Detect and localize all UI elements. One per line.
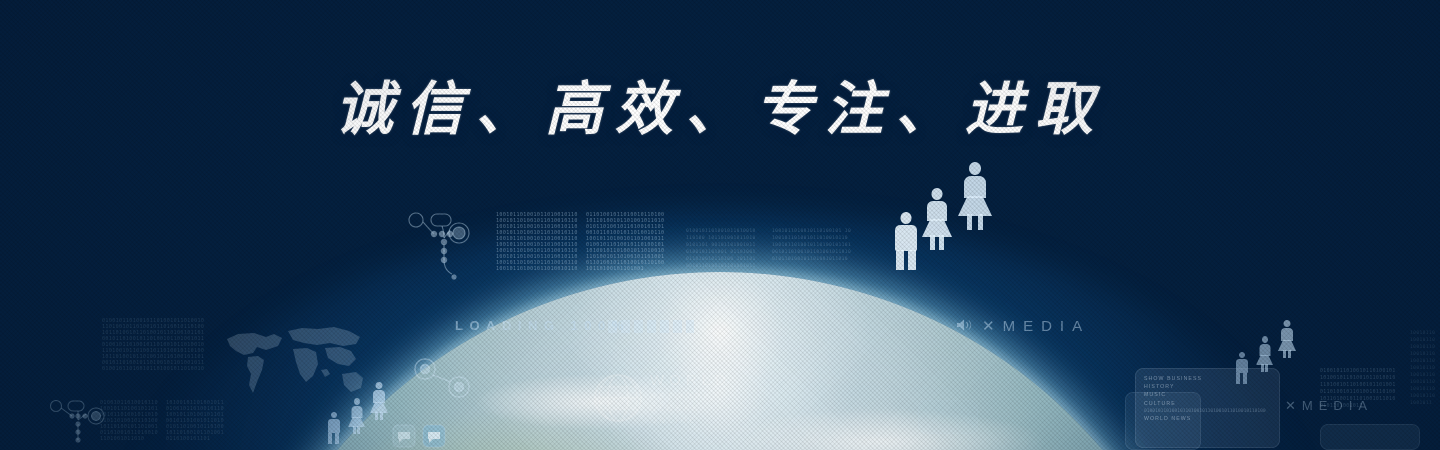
hud-panel-globe-right xyxy=(918,400,978,434)
person-icon-female-2 xyxy=(958,162,992,230)
info-panel-line-5: WORLD NEWS xyxy=(1144,415,1271,423)
person-icon-left-3 xyxy=(370,382,388,420)
speaker-icon xyxy=(955,318,975,332)
network-node-diagram-top xyxy=(404,208,476,284)
chat-bubble-icon-2 xyxy=(422,424,446,448)
hud-panel-bottom-center xyxy=(1320,424,1420,450)
person-icon-right-1 xyxy=(1234,352,1249,384)
hero-banner: WORLD NETWORK GLOBAL ONLINE 诚信、高效、专注、进取 … xyxy=(0,0,1440,450)
media-label-right: ✕MEDIA xyxy=(1285,398,1373,414)
globe-sub-line-3: ONLINE xyxy=(650,416,698,425)
person-icon-left-1 xyxy=(326,412,341,444)
info-panel-line-2: HISTORY xyxy=(1144,383,1271,391)
binary-string-block-1: 0100101101001011010010110100 10110100101… xyxy=(686,228,758,274)
binary-block-bottom-left-2: 1010010110100101101001011010010110100101… xyxy=(166,400,224,448)
person-icon-left-2 xyxy=(348,398,365,434)
info-panel[interactable]: SHOW BUSINESS HISTORY MUSIC CULTURE 0100… xyxy=(1135,368,1280,448)
binary-block-center-2: 0110100101101001011010010110100101101001… xyxy=(586,212,666,272)
loading-label: LOADING 100% xyxy=(455,318,630,333)
binary-block-center-1: 1001011010010110100101101001011010010110… xyxy=(496,212,578,272)
person-icon-female-1 xyxy=(922,188,952,250)
earth-globe xyxy=(220,272,1220,450)
binary-block-far-right: 1001011010010110100101101001011010010110… xyxy=(1410,330,1438,440)
globe-sub-line-1: NETWORK xyxy=(650,392,712,401)
media-label-center: ✕MEDIA xyxy=(982,317,1090,335)
chat-bubble-icon-1 xyxy=(392,424,416,448)
globe-world-label: WORLD xyxy=(650,372,731,389)
info-panel-line-4: CULTURE xyxy=(1144,400,1271,408)
binary-block-left: 0100101101001011010010110100101101001011… xyxy=(102,318,207,370)
person-icon-right-3 xyxy=(1278,320,1296,358)
network-node-diagram-bottom-left xyxy=(46,392,118,450)
globe-grid-icon xyxy=(592,372,644,424)
node-link-icon xyxy=(412,356,474,400)
info-panel-bits: 0100101101001011010010110100101101001011… xyxy=(1144,408,1271,415)
info-panel-line-1: SHOW BUSINESS xyxy=(1144,375,1271,383)
page-title: 诚信、高效、专注、进取 xyxy=(0,62,1440,146)
world-map-silhouette xyxy=(218,322,368,404)
globe-sub-line-2: GLOBAL xyxy=(650,404,700,413)
person-icon-male xyxy=(892,212,920,270)
binary-string-block-2: 1001011010010110100101 10100101101001011… xyxy=(772,228,852,274)
info-panel-line-3: MUSIC xyxy=(1144,391,1271,399)
person-icon-right-2 xyxy=(1256,336,1273,372)
globe-sphere xyxy=(220,272,1220,450)
